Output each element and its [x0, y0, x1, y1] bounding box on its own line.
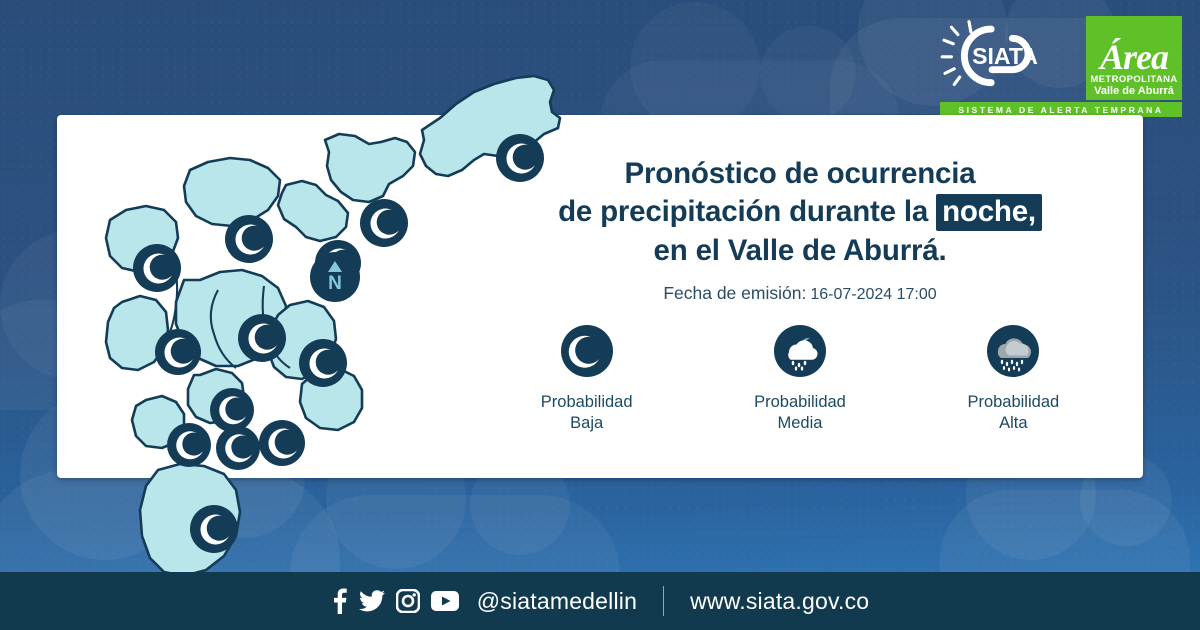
- legend-label-alta: Probabilidad Alta: [928, 392, 1098, 433]
- title-line-2: de precipitación durante la noche,: [480, 193, 1120, 231]
- map-marker[interactable]: [299, 339, 347, 387]
- youtube-icon[interactable]: [431, 591, 459, 611]
- municipality-san-pedro: [184, 158, 280, 226]
- siata-wordmark: SIATA: [972, 43, 1038, 69]
- map-marker[interactable]: [167, 423, 211, 467]
- footer-divider: [663, 586, 664, 616]
- emission-date: Fecha de emisión:16-07-2024 17:00: [480, 283, 1120, 304]
- emission-label: Fecha de emisión:: [663, 283, 806, 303]
- legend-label-baja: Probabilidad Baja: [502, 392, 672, 433]
- probability-legend: Probabilidad Baja Probabilidad Media: [480, 325, 1120, 433]
- map-svg: N: [50, 40, 570, 600]
- map-marker[interactable]: [190, 505, 238, 553]
- area-line2: Valle de Aburrá: [1094, 85, 1174, 97]
- emission-value: 16-07-2024 17:00: [810, 286, 936, 303]
- title-highlight-noche: noche,: [936, 194, 1042, 231]
- map-marker[interactable]: [210, 388, 254, 432]
- cloud-heavy-rain-icon: [987, 325, 1039, 377]
- map-marker[interactable]: [238, 314, 286, 362]
- legend-label-media-line1: Probabilidad: [715, 392, 885, 413]
- website-url[interactable]: www.siata.gov.co: [690, 588, 869, 615]
- legend-label-media-line2: Media: [715, 413, 885, 434]
- social-handle[interactable]: @siatamedellin: [477, 588, 637, 615]
- twitter-icon[interactable]: [359, 590, 385, 613]
- map-marker[interactable]: [155, 329, 201, 375]
- footer-bar: @siatamedellin www.siata.gov.co: [0, 572, 1200, 630]
- infographic-root: SIATA Área METROPOLITANA Valle de Aburrá…: [0, 0, 1200, 630]
- compass-north-icon: N: [310, 252, 360, 302]
- title-line-1: Pronóstico de ocurrencia: [480, 155, 1120, 193]
- municipality-copacabana: [278, 181, 348, 241]
- legend-item-baja: Probabilidad Baja: [502, 325, 672, 433]
- legend-label-alta-line2: Alta: [928, 413, 1098, 434]
- title-line-3: en el Valle de Aburrá.: [480, 232, 1120, 270]
- title-line-2-text: de precipitación durante la: [558, 195, 928, 228]
- area-script-text: Área: [1100, 41, 1168, 73]
- map-marker[interactable]: [360, 199, 408, 247]
- map-marker[interactable]: [216, 426, 260, 470]
- page-title: Pronóstico de ocurrencia de precipitació…: [480, 155, 1120, 270]
- legend-item-alta: Probabilidad Alta: [928, 325, 1098, 433]
- area-metropolitana-logo: Área METROPOLITANA Valle de Aburrá: [1086, 16, 1182, 100]
- moon-icon: [561, 325, 613, 377]
- valle-de-aburra-map: N: [50, 40, 570, 600]
- headline-block: Pronóstico de ocurrencia de precipitació…: [480, 155, 1120, 304]
- legend-label-media: Probabilidad Media: [715, 392, 885, 433]
- map-marker[interactable]: [133, 244, 181, 292]
- logo-group: SIATA Área METROPOLITANA Valle de Aburrá…: [936, 14, 1186, 114]
- map-marker[interactable]: [259, 420, 305, 466]
- map-marker[interactable]: [225, 215, 273, 263]
- social-icons: [331, 588, 459, 614]
- siata-logo: SIATA: [940, 18, 1070, 90]
- legend-label-alta-line1: Probabilidad: [928, 392, 1098, 413]
- legend-label-baja-line1: Probabilidad: [502, 392, 672, 413]
- facebook-icon[interactable]: [331, 588, 348, 614]
- instagram-icon[interactable]: [396, 589, 420, 613]
- legend-label-baja-line2: Baja: [502, 413, 672, 434]
- cloud-rain-moon-icon: [774, 325, 826, 377]
- legend-item-media: Probabilidad Media: [715, 325, 885, 433]
- municipality-girardota: [325, 134, 415, 202]
- compass-letter: N: [328, 273, 342, 294]
- area-line1: METROPOLITANA: [1090, 75, 1177, 85]
